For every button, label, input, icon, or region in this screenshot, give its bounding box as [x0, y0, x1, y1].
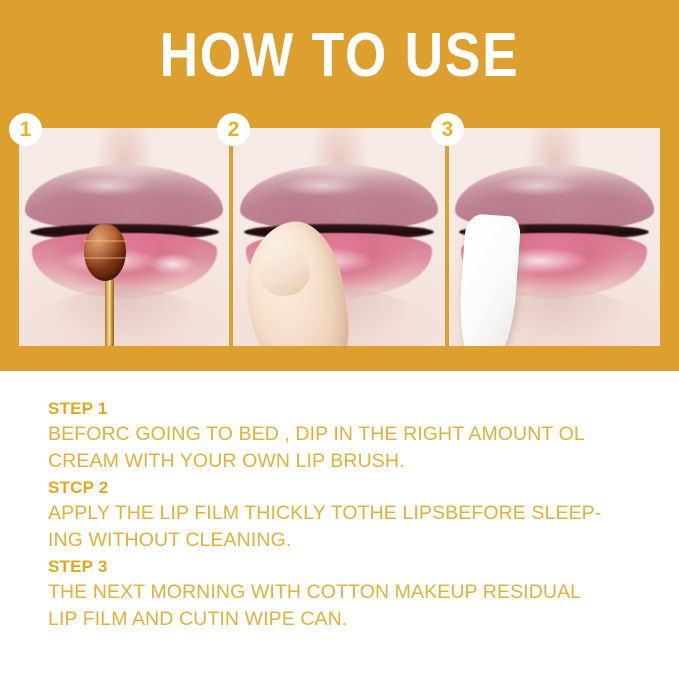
step-1-heading: STEP 1 [48, 396, 658, 421]
fingernail-icon [255, 239, 313, 300]
upper-lip-highlight [495, 176, 580, 196]
step-badge-2: 2 [217, 113, 250, 146]
instruction-step-2: STCP 2 APPLY THE LIP FILM THICKLY TOTHE … [48, 475, 658, 554]
step-2-line-2: ING WITHOUT CLEANING. [48, 527, 658, 554]
photo-panel-step-3 [449, 128, 660, 346]
step-badge-1: 1 [9, 113, 42, 146]
instruction-step-3: STEP 3 THE NEXT MORNING WITH COTTON MAKE… [48, 554, 658, 633]
step-3-heading: STEP 3 [48, 554, 658, 579]
instructions-block: STEP 1 BEFORC GOING TO BED , DIP IN THE … [48, 396, 658, 633]
step-1-line-2: CREAM WITH YOUR OWN LIP BRUSH. [48, 448, 658, 475]
step-badge-3: 3 [431, 113, 464, 146]
instruction-step-1: STEP 1 BEFORC GOING TO BED , DIP IN THE … [48, 396, 658, 475]
wand-band-lower [84, 257, 126, 259]
step-3-line-2: LIP FILM AND CUTIN WIPE CAN. [48, 606, 658, 633]
photo-panel-step-2 [233, 128, 444, 346]
photo-strip [19, 128, 660, 346]
upper-lip-highlight [280, 176, 365, 196]
step-2-heading: STCP 2 [48, 475, 658, 500]
applicator-wand-head-icon [84, 224, 126, 281]
chin-shadow [44, 289, 204, 346]
step-1-line-1: BEFORC GOING TO BED , DIP IN THE RIGHT A… [48, 421, 658, 448]
photo-panel-step-1 [19, 128, 229, 346]
how-to-use-infographic: HOW TO USE [0, 0, 679, 679]
step-2-line-1: APPLY THE LIP FILM THICKLY TOTHE LIPSBEF… [48, 500, 658, 527]
upper-lip-highlight [65, 176, 149, 196]
page-title: HOW TO USE [48, 20, 632, 92]
lower-lip-highlight-secondary [149, 254, 195, 274]
wand-band-upper [84, 240, 126, 242]
step-3-line-1: THE NEXT MORNING WITH COTTON MAKEUP RESI… [48, 579, 658, 606]
